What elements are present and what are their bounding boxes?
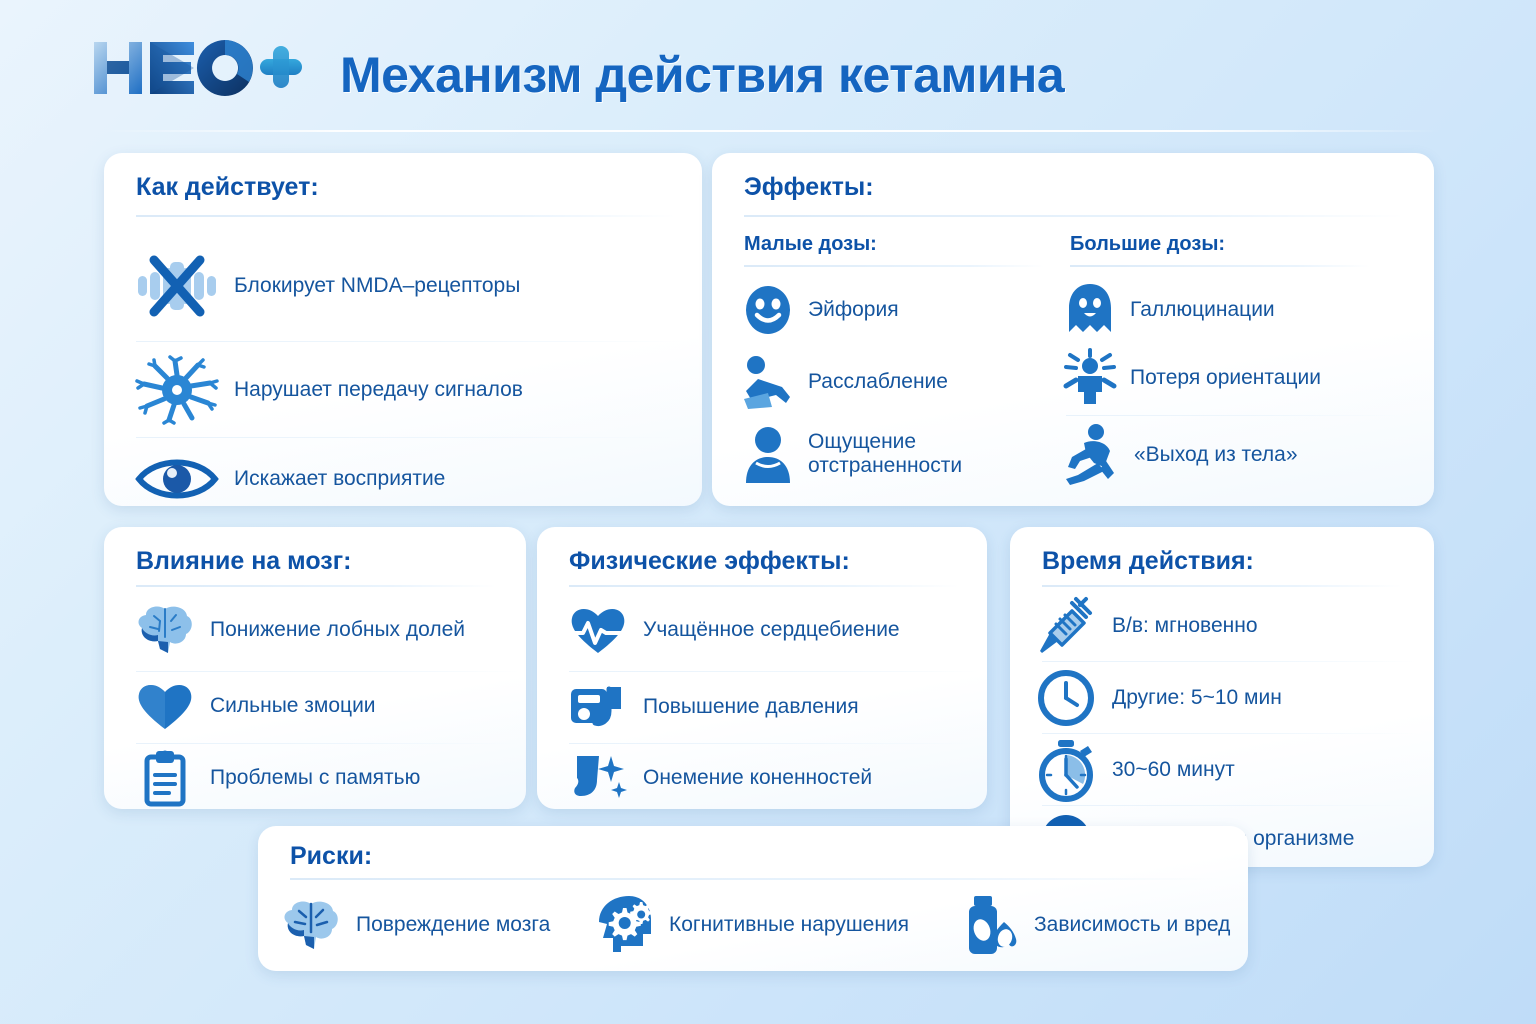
person-bust-icon xyxy=(742,425,794,483)
list-item[interactable]: Нарушает передачу сигналов xyxy=(134,353,679,427)
list-item-label: Повышение давления xyxy=(643,695,859,719)
card-title-brain-impact: Влияние на мозг: xyxy=(136,547,351,576)
list-item[interactable]: Галлюцинации xyxy=(1064,281,1404,339)
list-item[interactable]: Повышение давления xyxy=(567,677,977,737)
list-item[interactable]: Когнитивные нарушения xyxy=(593,888,943,962)
card-risks: Риски: Повреждение мозга xyxy=(258,826,1248,971)
list-item[interactable]: Эйфория xyxy=(742,281,1062,339)
head-gears-icon xyxy=(593,894,655,956)
item-separator xyxy=(136,341,681,342)
syringe-icon xyxy=(1036,595,1098,657)
list-item-label: В/в: мгновенно xyxy=(1112,614,1258,638)
list-item-label: Повреждение мозга xyxy=(356,913,550,937)
pill-bottle-icon xyxy=(958,894,1020,956)
item-separator xyxy=(569,671,979,672)
list-item-label: Когнитивные нарушения xyxy=(669,913,909,937)
clock-icon xyxy=(1036,669,1098,727)
smiley-face-icon xyxy=(742,284,794,336)
card-title-how-it-works: Как действует: xyxy=(136,173,319,202)
list-item[interactable]: Сильные змоции xyxy=(134,677,519,735)
list-item[interactable]: Понижение лобных долей xyxy=(134,599,519,661)
card-how-it-works: Как действует: xyxy=(104,153,702,506)
list-item-label: Сильные змоции xyxy=(210,694,376,718)
stopwatch-icon xyxy=(1036,739,1098,801)
list-item-label: Учащённое сердцебиение xyxy=(643,618,900,642)
list-item-label: Проблемы с памятью xyxy=(210,766,420,790)
subheading-low-dose: Малые дозы: xyxy=(744,233,877,256)
item-separator xyxy=(1066,415,1404,416)
clipboard-icon xyxy=(134,749,196,807)
item-separator xyxy=(1042,733,1417,734)
list-item-label: «Выход из тела» xyxy=(1134,443,1298,467)
card-divider xyxy=(744,215,1404,217)
list-item[interactable]: Расслабление xyxy=(742,351,1062,413)
dizzy-person-icon xyxy=(1064,350,1116,406)
card-effects: Эффекты: Малые дозы: Эйфория xyxy=(712,153,1434,506)
list-item[interactable]: Блокирует NMDA–рецепторы xyxy=(134,245,679,327)
card-divider xyxy=(136,585,496,587)
list-item-label: Понижение лобных долей xyxy=(210,618,465,642)
card-title-risks: Риски: xyxy=(290,842,372,871)
list-item[interactable]: Искажает восприятие xyxy=(134,449,679,509)
list-item[interactable]: Потеря ориентации xyxy=(1064,349,1404,407)
list-item-label: Зависимость и вред xyxy=(1034,913,1230,937)
item-separator xyxy=(569,743,979,744)
card-divider xyxy=(290,878,1220,880)
brand-logo xyxy=(92,38,302,100)
infographic-page: Механизм действия кетамина Как действует… xyxy=(0,0,1536,1024)
item-separator xyxy=(1042,661,1417,662)
list-item[interactable]: В/в: мгновенно xyxy=(1036,595,1426,657)
list-item-label: Другие: 5~10 мин xyxy=(1112,686,1282,710)
item-separator xyxy=(136,743,521,744)
list-item-label: Онемение коненностей xyxy=(643,766,872,790)
card-divider xyxy=(136,215,676,217)
list-item-label: Нарушает передачу сигналов xyxy=(234,378,523,402)
list-item-label: Искажает восприятие xyxy=(234,467,445,491)
card-divider xyxy=(1042,585,1402,587)
brain-icon xyxy=(134,603,196,657)
reclining-person-icon xyxy=(742,353,794,411)
header-divider xyxy=(100,130,1440,132)
list-item[interactable]: Зависимость и вред xyxy=(958,888,1248,962)
heart-icon xyxy=(134,679,196,733)
list-item[interactable]: 30~60 минут xyxy=(1036,739,1426,801)
item-separator xyxy=(136,437,681,438)
card-brain-impact: Влияние на мозг: Понижение лобных долей xyxy=(104,527,526,809)
header: Механизм действия кетамина xyxy=(0,0,1536,138)
neuron-icon xyxy=(134,358,220,422)
heart-pulse-icon xyxy=(567,603,629,657)
card-title-physical-effects: Физические эффекты: xyxy=(569,547,850,576)
list-item-label: Ощущение отстраненности xyxy=(808,430,962,477)
floating-person-icon xyxy=(1064,423,1120,487)
card-physical-effects: Физические эффекты: Учащённое сердцебиен… xyxy=(537,527,987,809)
numb-foot-icon xyxy=(567,750,629,806)
item-separator xyxy=(1042,805,1417,806)
card-duration: Время действия: xyxy=(1010,527,1434,867)
list-item[interactable]: Учащённое сердцебиение xyxy=(567,599,977,661)
page-title: Механизм действия кетамина xyxy=(340,46,1064,104)
list-item-label: Блокирует NMDA–рецепторы xyxy=(234,274,520,298)
list-item[interactable]: Ощущение отстраненности xyxy=(742,421,1062,487)
list-item[interactable]: Повреждение мозга xyxy=(280,888,590,962)
list-item[interactable]: Онемение коненностей xyxy=(567,749,977,807)
list-item-label: 30~60 минут xyxy=(1112,758,1235,782)
list-item[interactable]: Другие: 5~10 мин xyxy=(1036,667,1426,729)
damaged-brain-icon xyxy=(280,896,342,954)
item-separator xyxy=(136,671,521,672)
card-title-duration: Время действия: xyxy=(1042,547,1254,576)
list-item-label: Эйфория xyxy=(808,298,899,322)
subheading-divider xyxy=(1070,265,1370,267)
list-item[interactable]: «Выход из тела» xyxy=(1064,421,1404,489)
list-item-label: Расслабление xyxy=(808,370,948,394)
subheading-divider xyxy=(744,265,1044,267)
blocked-receptor-icon xyxy=(134,254,220,318)
card-title-effects: Эффекты: xyxy=(744,173,874,202)
eye-icon xyxy=(134,454,220,504)
list-item[interactable]: Проблемы с памятью xyxy=(134,749,519,807)
card-divider xyxy=(569,585,959,587)
blood-pressure-monitor-icon xyxy=(567,679,629,735)
list-item-label: Потеря ориентации xyxy=(1130,366,1321,390)
ghost-icon xyxy=(1064,282,1116,338)
subheading-high-dose: Большие дозы: xyxy=(1070,233,1225,256)
list-item-label: Галлюцинации xyxy=(1130,298,1275,322)
